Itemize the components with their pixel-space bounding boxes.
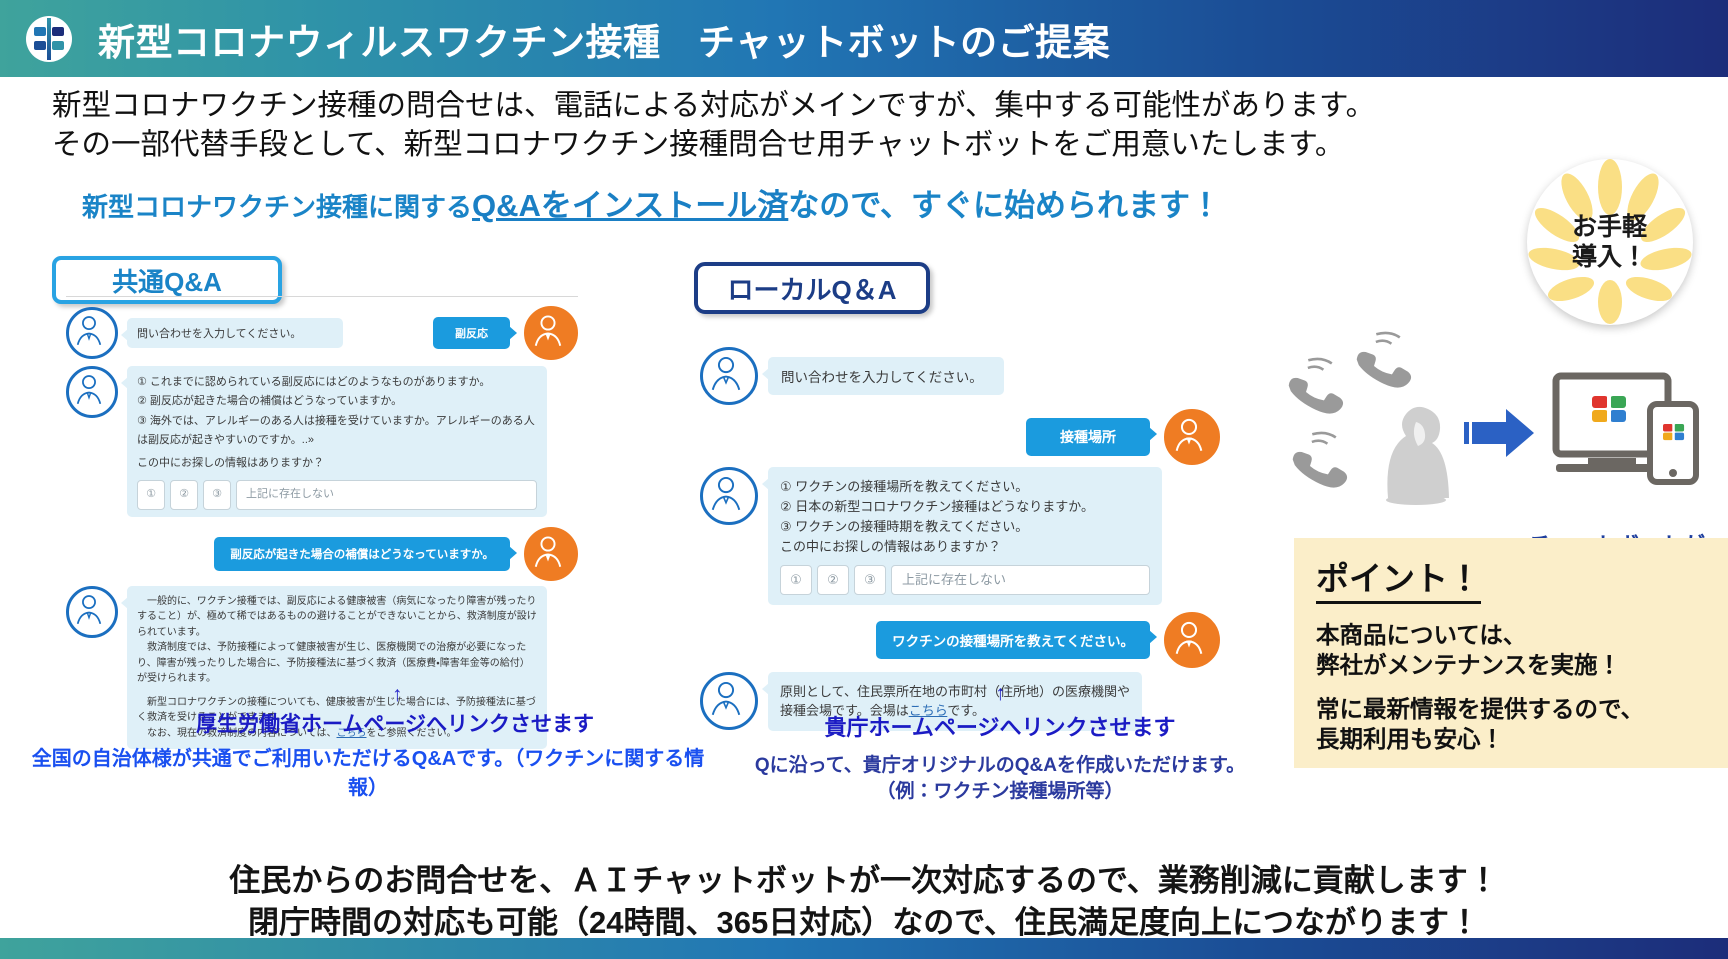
subheadline-emphasis: Q&Aをインストール済 xyxy=(472,188,788,223)
lead-line-1: 新型コロナワクチン接種の問合せは、電話による対応がメインですが、集中する可能性が… xyxy=(52,86,1472,125)
common-qa-up-arrow: ↑ xyxy=(392,683,403,707)
user-avatar xyxy=(1164,612,1220,668)
local-qa-caption-1: 貴庁ホームページへリンクさせます xyxy=(740,710,1260,742)
overwhelmed-person-icon xyxy=(1386,407,1449,505)
qa-confirm-text: この中にお探しの情報はありますか？ xyxy=(137,454,537,473)
common-qa-chat-panel: 問い合わせを入力してください。 副反応 ① これまでに認められている副反応にはど… xyxy=(66,296,578,749)
lead-line-2: その一部代替手段として、新型コロナワクチン接種問合せ用チャットボットをご用意いた… xyxy=(52,125,1472,164)
answer-chip-3[interactable]: ③ xyxy=(203,480,231,509)
answer-chip-1[interactable]: ① xyxy=(137,480,165,509)
answer-paragraph-1: 一般的に、ワクチン接種では、副反応による健康被害（病気になったり障害が残ったりす… xyxy=(137,594,537,641)
point-box-line-3: 常に最新情報を提供するので、 xyxy=(1316,694,1728,724)
answer-paragraph-2: 救済制度では、予防接種によって健康被害が生じ、医療機関での治療が必要になったり、… xyxy=(137,640,537,687)
bot-avatar xyxy=(66,366,118,418)
answer-chip-none[interactable]: 上記に存在しない xyxy=(891,565,1150,595)
local-qa-label: ローカルQ＆A xyxy=(694,262,930,314)
bot-avatar xyxy=(66,307,118,359)
badge-line-1: お手軽 xyxy=(1572,212,1647,243)
qa-confirm-text: この中にお探しの情報はありますか？ xyxy=(780,537,1150,557)
summary-line-1: 住民からのお問合せを、ＡＩチャットボットが一次対応するので、業務削減に貢献します… xyxy=(0,860,1728,902)
qa-option-3[interactable]: ③ ワクチンの接種時期を教えてください。 xyxy=(780,517,1150,537)
qa-option-1[interactable]: ① ワクチンの接種場所を教えてください。 xyxy=(780,477,1150,497)
brain-logo-icon xyxy=(1592,394,1626,424)
local-qa-up-arrow: ↑ xyxy=(995,682,1006,706)
badge-line-2: 導入！ xyxy=(1572,242,1647,273)
answer-chip-2[interactable]: ② xyxy=(170,480,198,509)
common-qa-caption-1: 厚生労働省ホームページへリンクさせます xyxy=(140,708,650,738)
bot-avatar xyxy=(700,347,758,405)
user-chip-bubble: 接種場所 xyxy=(1026,418,1150,456)
answer-chip-2[interactable]: ② xyxy=(817,565,849,595)
bot-avatar xyxy=(700,467,758,525)
qa-option-2[interactable]: ② 日本の新型コロナワクチン接種はどうなりますか。 xyxy=(780,497,1150,517)
brain-logo-icon xyxy=(26,16,72,62)
user-avatar xyxy=(524,527,578,581)
bot-prompt-bubble: 問い合わせを入力してください。 xyxy=(127,318,343,348)
bot-prompt-bubble: 問い合わせを入力してください。 xyxy=(768,357,1004,395)
local-qa-caption-2: Qに沿って、貴庁オリジナルのQ&Aを作成いただけます。 xyxy=(700,750,1300,777)
lead-paragraph: 新型コロナワクチン接種の問合せは、電話による対応がメインですが、集中する可能性が… xyxy=(52,86,1472,164)
subheadline-suffix: なので、すぐに始められます！ xyxy=(788,188,1221,223)
local-qa-caption-3: （例：ワクチン接種場所等） xyxy=(700,776,1300,803)
smartphone-icon xyxy=(1650,404,1696,482)
point-box-title: ポイント！ xyxy=(1316,552,1481,604)
user-avatar xyxy=(524,306,578,360)
user-question-bubble: ワクチンの接種場所を教えてください。 xyxy=(876,621,1150,659)
user-question-bubble: 副反応が起きた場合の補償はどうなっていますか。 xyxy=(214,537,510,571)
qa-option-3[interactable]: ③ 海外では、アレルギーのある人は接種を受けていますか。アレルギーのある人は副反… xyxy=(137,412,537,451)
point-box-line-1: 本商品については、 xyxy=(1316,620,1728,650)
point-box: ポイント！ 本商品については、 弊社がメンテナンスを実施！ 常に最新情報を提供す… xyxy=(1294,538,1728,768)
answer-chip-3[interactable]: ③ xyxy=(854,565,886,595)
common-qa-caption-2: 全国の自治体様が共通でご利用いただけるQ&Aです。（ワクチンに関する情報） xyxy=(18,742,718,800)
page-header: 新型コロナウィルスワクチン接種 チャットボットのご提案 xyxy=(0,0,1728,77)
workflow-graphic xyxy=(1268,330,1728,530)
bot-avatar xyxy=(66,586,118,638)
user-chip-bubble: 副反応 xyxy=(433,317,510,349)
subheadline-prefix: 新型コロナワクチン接種に関する xyxy=(82,192,472,222)
chat-divider xyxy=(66,296,578,297)
point-box-line-2: 弊社がメンテナンスを実施！ xyxy=(1316,650,1728,680)
local-qa-chat-panel: 問い合わせを入力してください。 接種場所 ① ワクチンの接種場所を教えてください… xyxy=(700,340,1220,731)
bottom-summary: 住民からのお問合せを、ＡＩチャットボットが一次対応するので、業務削減に貢献します… xyxy=(0,860,1728,944)
answer-chip-none[interactable]: 上記に存在しない xyxy=(236,480,537,509)
user-avatar xyxy=(1164,409,1220,465)
qa-option-1[interactable]: ① これまでに認められている副反応にはどのようなものがありますか。 xyxy=(137,373,537,392)
footer-bar xyxy=(0,938,1728,959)
answer-chip-1[interactable]: ① xyxy=(780,565,812,595)
point-box-line-4: 長期利用も安心！ xyxy=(1316,724,1728,754)
subheadline: 新型コロナワクチン接種に関するQ&Aをインストール済なので、すぐに始められます！ xyxy=(82,180,1221,225)
right-arrow-icon xyxy=(1464,409,1534,457)
qa-option-2[interactable]: ② 副反応が起きた場合の補償はどうなっていますか。 xyxy=(137,392,537,411)
easy-install-badge: お手軽 導入！ xyxy=(1491,158,1728,326)
page-title: 新型コロナウィルスワクチン接種 チャットボットのご提案 xyxy=(98,12,1110,66)
